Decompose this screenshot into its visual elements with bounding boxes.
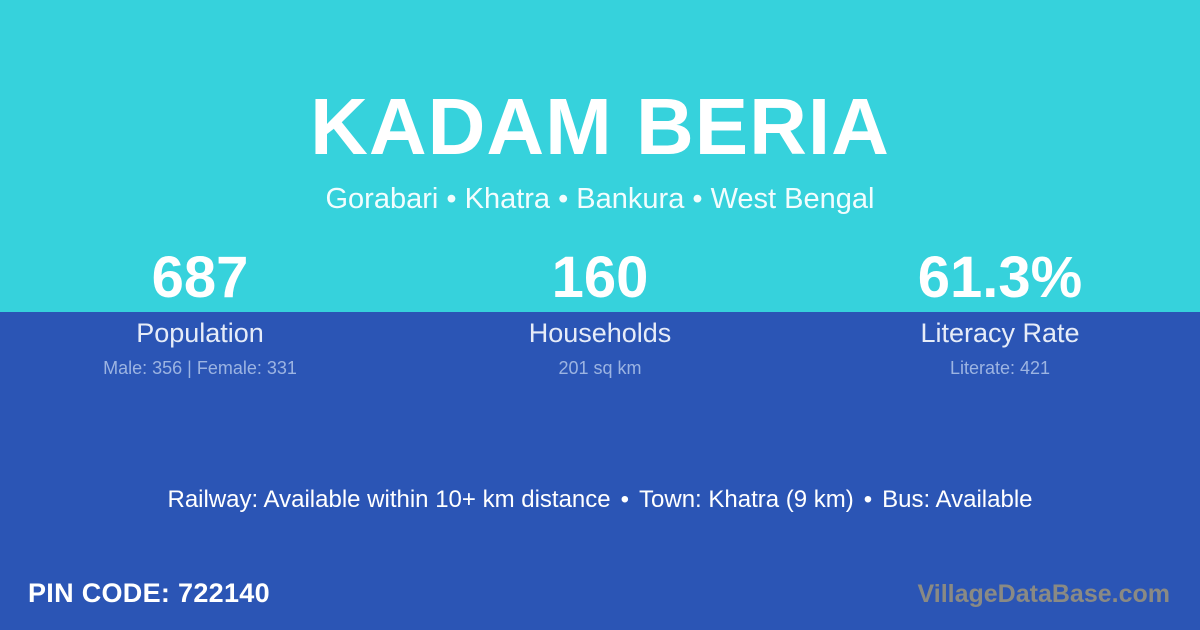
stat-label-population: Population [0,317,400,349]
page-title: KADAM BERIA [0,84,1200,170]
stat-value-households: 160 [400,248,800,312]
stat-literacy-rate: 61.3% Literacy Rate Literate: 421 [800,248,1200,379]
stat-sub-population: Male: 356 | Female: 331 [0,357,400,379]
pin-code: PIN CODE: 722140 [28,576,270,610]
stat-value-literacy-rate: 61.3% [800,248,1200,312]
stat-population: 687 Population Male: 356 | Female: 331 [0,248,400,379]
amenity-bus: Bus: Available [882,486,1032,513]
amenity-separator-2: • [854,483,882,517]
village-info-card: KADAM BERIA Gorabari • Khatra • Bankura … [0,0,1200,630]
stat-sub-literacy-rate: Literate: 421 [800,357,1200,379]
stat-households: 160 Households 201 sq km [400,248,800,379]
stats-row: 687 Population Male: 356 | Female: 331 1… [0,248,1200,379]
stat-sub-households: 201 sq km [400,357,800,379]
card-footer: PIN CODE: 722140 VillageDataBase.com [0,570,1200,630]
stat-label-literacy-rate: Literacy Rate [800,317,1200,349]
brand-watermark: VillageDataBase.com [918,578,1170,610]
amenity-railway: Railway: Available within 10+ km distanc… [168,486,611,513]
stat-label-households: Households [400,317,800,349]
breadcrumb: Gorabari • Khatra • Bankura • West Benga… [0,180,1200,218]
amenities-row: Railway: Available within 10+ km distanc… [0,483,1200,517]
amenity-separator-1: • [611,483,639,517]
amenity-town: Town: Khatra (9 km) [639,486,854,513]
stat-value-population: 687 [0,248,400,312]
